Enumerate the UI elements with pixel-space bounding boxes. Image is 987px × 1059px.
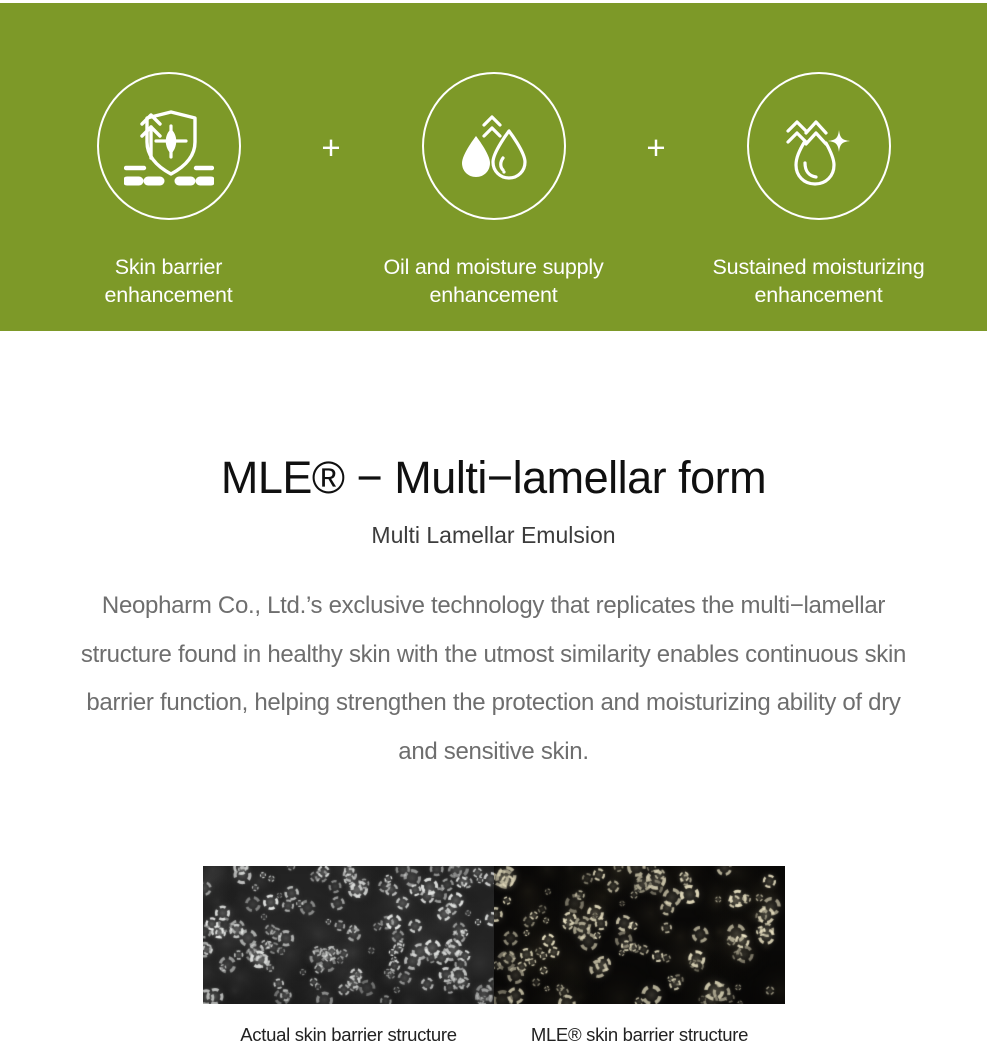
skin-barrier-shield-icon [124,102,214,190]
feature-label-skin-barrier: Skin barrier enhancement [104,253,232,309]
page-description: Neopharm Co., Ltd.’s exclusive technolog… [74,549,914,776]
page-subtitle: Multi Lamellar Emulsion [0,503,987,549]
comparison-captions: Actual skin barrier structure MLE® skin … [203,1004,785,1047]
feature-separator-plus-2: + [619,3,694,164]
mle-skin-barrier-micrograph [494,866,785,1004]
comparison-images [203,866,785,1004]
feature-icon-circle-3 [747,72,891,220]
feature-item-oil-moisture: Oil and moisture supply enhancement [369,3,619,309]
feature-item-skin-barrier: Skin barrier enhancement [44,3,294,309]
feature-icon-circle-1 [97,72,241,220]
oil-moisture-droplets-icon [454,106,534,186]
comparison-section: Actual skin barrier structure MLE® skin … [203,866,785,1047]
sustained-moisturizing-droplet-sparkle-icon [778,105,860,187]
main-content: MLE® − Multi−lamellar form Multi Lamella… [0,331,987,776]
feature-separator-plus-1: + [294,3,369,164]
feature-item-sustained-moisturizing: Sustained moisturizing enhancement [694,3,944,309]
feature-row: Skin barrier enhancement + [0,3,987,331]
feature-icon-circle-2 [422,72,566,220]
caption-actual-skin-barrier: Actual skin barrier structure [203,1023,494,1047]
feature-label-oil-moisture: Oil and moisture supply enhancement [383,253,603,309]
feature-label-sustained-moisturizing: Sustained moisturizing enhancement [713,253,925,309]
page-title: MLE® − Multi−lamellar form [0,331,987,503]
caption-mle-skin-barrier: MLE® skin barrier structure [494,1023,785,1047]
feature-band: Skin barrier enhancement + [0,3,987,331]
actual-skin-barrier-micrograph [203,866,494,1004]
